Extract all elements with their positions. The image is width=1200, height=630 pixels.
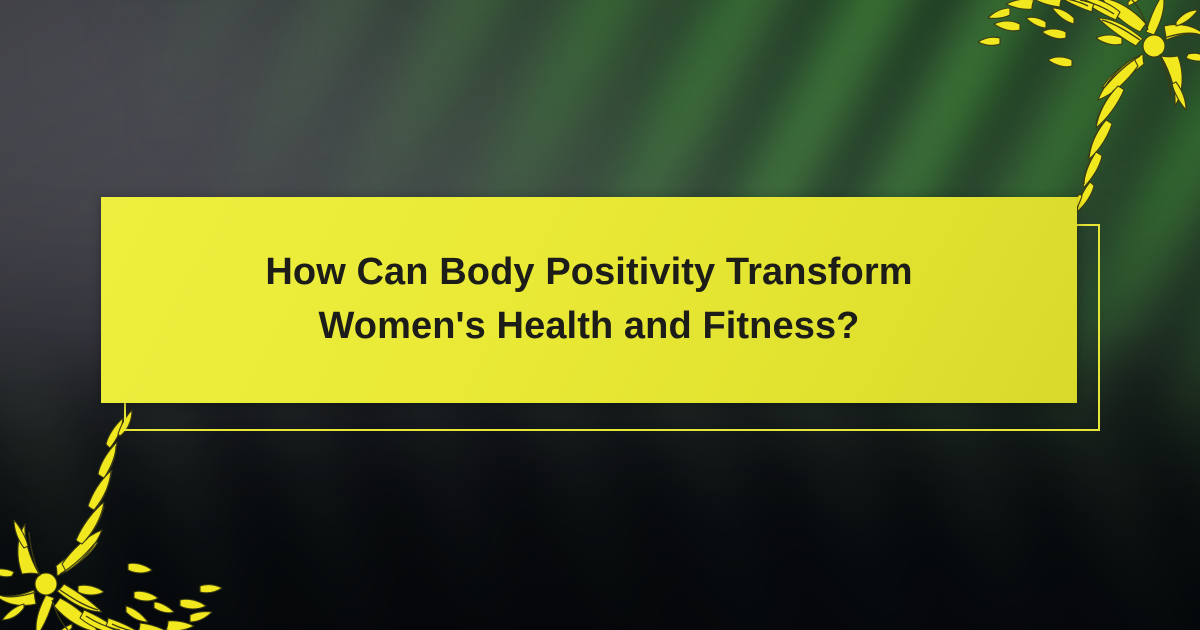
page-title-line-2: Women's Health and Fitness? xyxy=(318,305,859,347)
page-title-line-1: How Can Body Positivity Transform xyxy=(265,251,912,293)
page-title: How Can Body Positivity Transform Women'… xyxy=(265,246,912,354)
title-banner: How Can Body Positivity Transform Women'… xyxy=(101,197,1077,403)
article-header-card: How Can Body Positivity Transform Women'… xyxy=(0,0,1200,630)
